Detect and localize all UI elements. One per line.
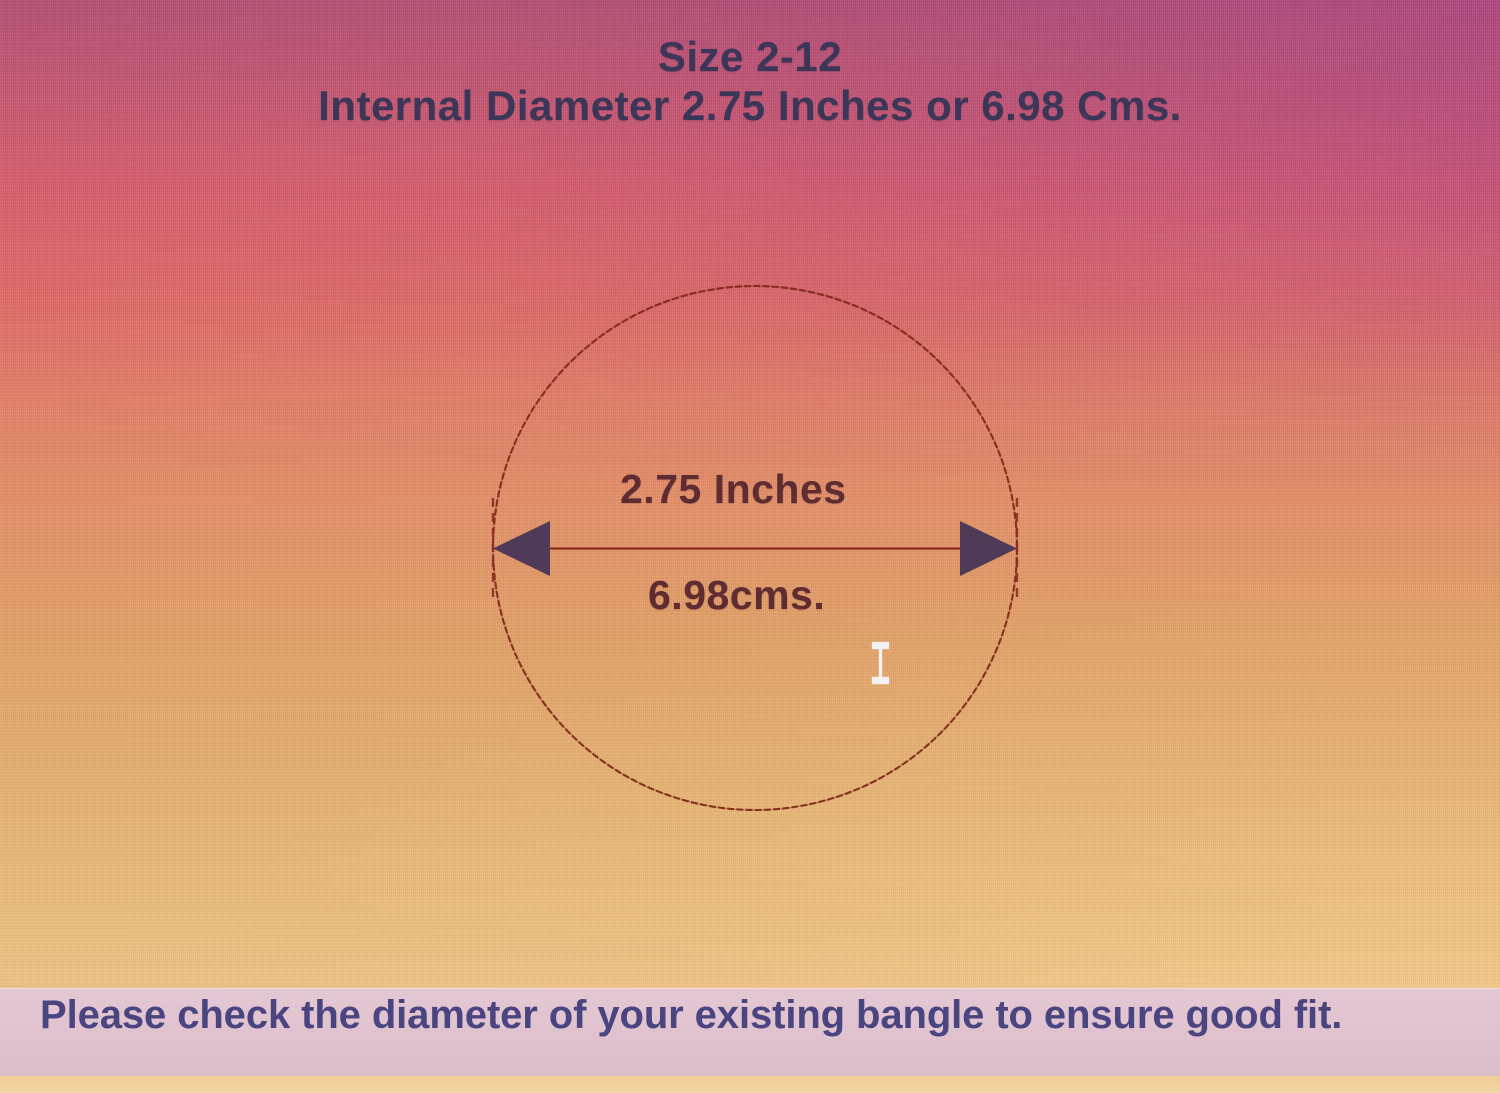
dimension-arrowhead-left [493, 521, 550, 576]
text-cursor-stem [879, 645, 882, 681]
footer-strip [0, 1076, 1500, 1093]
caption-text: Please check the diameter of your existi… [40, 993, 1342, 1038]
text-cursor-bottom-serif [872, 677, 889, 684]
dimension-label-inches: 2.75 Inches [620, 466, 847, 513]
screenshot-canvas: Size 2-12 Internal Diameter 2.75 Inches … [0, 0, 1500, 1093]
text-cursor-icon [872, 642, 889, 684]
caption-band: Please check the diameter of your existi… [0, 988, 1500, 1076]
dimension-arrowhead-right [960, 521, 1017, 576]
dimension-label-centimeters: 6.98cms. [648, 572, 825, 619]
bangle-diameter-diagram [0, 0, 1500, 1093]
